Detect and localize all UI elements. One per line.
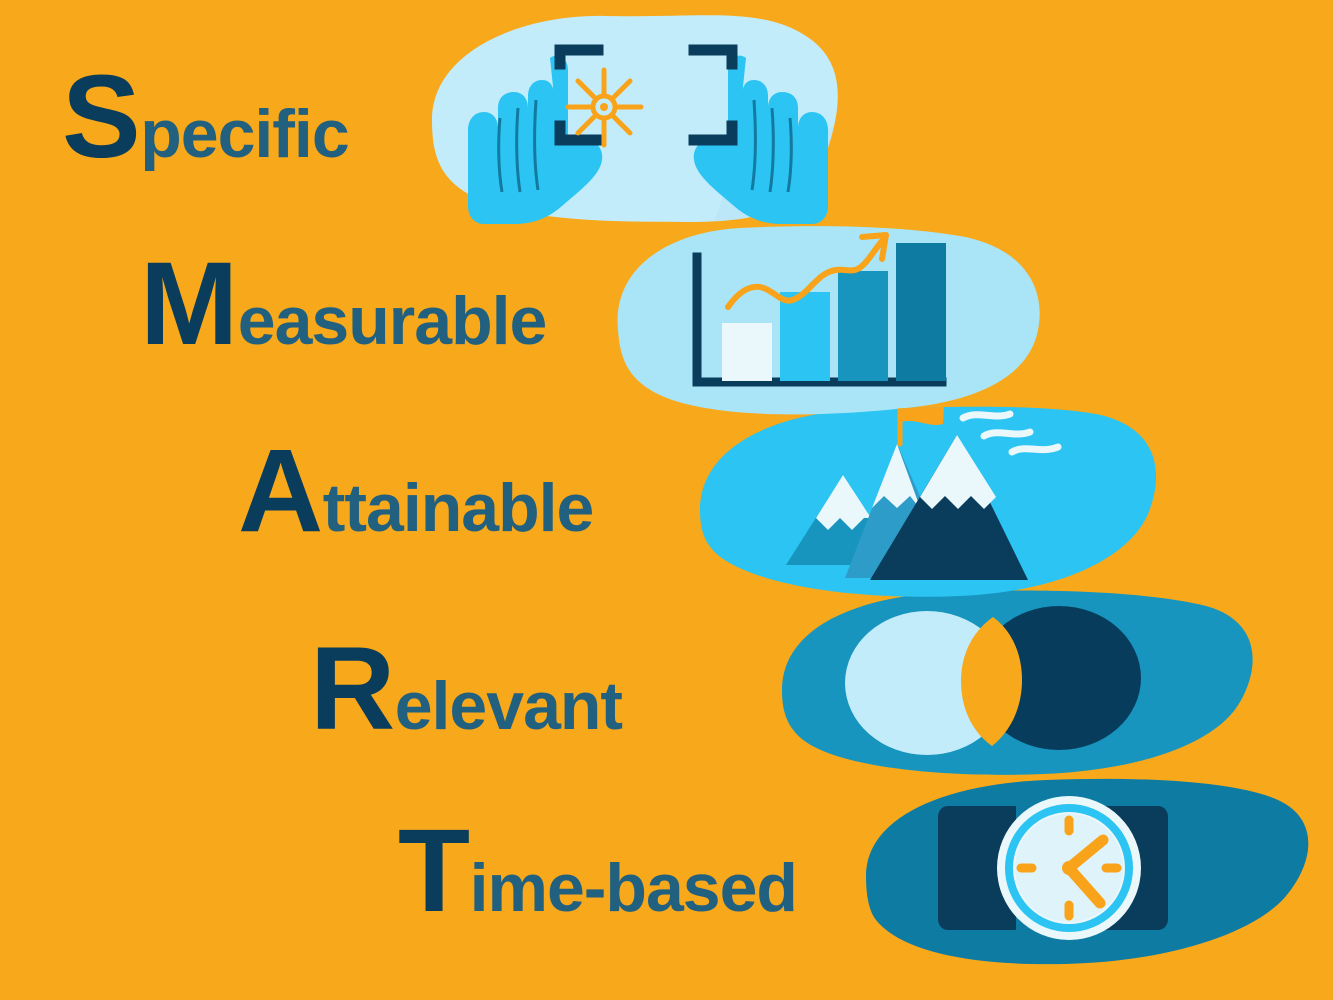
illustration-layer	[0, 0, 1333, 1000]
chart-bar-2	[780, 292, 830, 381]
chart-bar-1	[722, 323, 772, 381]
chart-bar-3	[838, 271, 888, 381]
smart-goals-poster: Specific Measurable Attainable Relevant …	[0, 0, 1333, 1000]
venn-diagram-icon	[845, 606, 1141, 755]
chart-bar-4	[896, 243, 946, 381]
wristwatch-clock-icon	[938, 796, 1168, 940]
target-starburst-icon	[568, 70, 641, 145]
